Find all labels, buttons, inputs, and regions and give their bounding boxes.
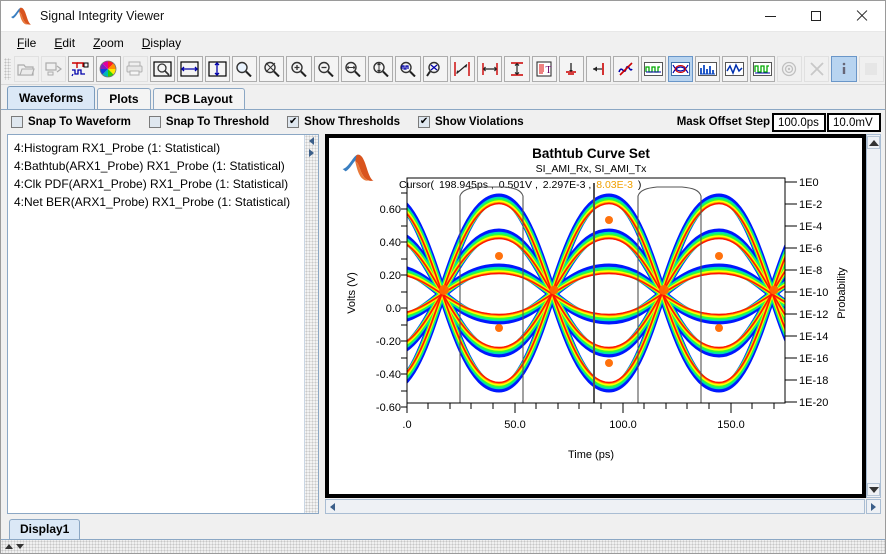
tab-waveforms[interactable]: Waveforms xyxy=(7,86,95,109)
title-bar: Signal Integrity Viewer xyxy=(1,1,885,32)
status-scroll-arrows[interactable] xyxy=(5,544,24,549)
cursor-suffix: ) xyxy=(638,179,642,191)
cursor-sep2: , xyxy=(535,179,538,191)
window-controls xyxy=(747,1,885,31)
scroll-left-icon[interactable] xyxy=(326,500,339,513)
checkbox-show-violations[interactable]: ✔ Show Violations xyxy=(418,116,524,128)
chart-title: Bathtub Curve Set xyxy=(532,146,650,161)
cursor-value2: 8.03E-3 xyxy=(596,179,633,191)
snap-to-threshold-label: Snap To Threshold xyxy=(166,116,269,128)
signal-integrity-viewer-window: Signal Integrity Viewer File Edit Zoom D… xyxy=(0,0,886,554)
menu-zoom[interactable]: Zoom xyxy=(84,34,133,52)
marker-left-icon[interactable] xyxy=(586,56,611,82)
open-icon[interactable] xyxy=(14,56,39,82)
zoom-fit-horizontal-icon[interactable] xyxy=(341,56,366,82)
status-down-icon[interactable] xyxy=(16,544,24,549)
waveform-list-scrollbar[interactable] xyxy=(304,135,318,513)
y-tick-label: 0.60 xyxy=(380,204,401,216)
tab-plots[interactable]: Plots xyxy=(97,88,150,109)
checkbox-show-thresholds[interactable]: ✔ Show Thresholds xyxy=(287,116,400,128)
options-bar: Snap To Waveform Snap To Threshold ✔ Sho… xyxy=(1,110,885,134)
list-item[interactable]: 4:Clk PDF(ARX1_Probe) RX1_Probe (1: Stat… xyxy=(14,175,302,193)
measure-horizontal-icon[interactable] xyxy=(477,56,502,82)
close-icon[interactable] xyxy=(839,1,885,31)
cursor-value1: 2.297E-3 xyxy=(543,179,586,191)
y2-tick-label: 1E-2 xyxy=(799,199,822,211)
zoom-vertical-icon[interactable] xyxy=(205,56,230,82)
menu-zoom-rest: oom xyxy=(100,36,123,50)
cursor-sep1: , xyxy=(491,179,494,191)
status-up-icon[interactable] xyxy=(5,544,13,549)
cursor-prefix: Cursor( xyxy=(399,179,435,191)
menu-file-rest: ile xyxy=(24,36,36,50)
checkbox-snap-to-waveform[interactable]: Snap To Waveform xyxy=(11,116,131,128)
plot-wrap: Bathtub Curve Set SI_AMI_Rx, SI_AMI_Tx C… xyxy=(325,134,881,498)
cursor-time: 198.945ps xyxy=(439,179,488,191)
histogram-icon[interactable] xyxy=(695,56,720,82)
y2-axis-label: Probability xyxy=(836,267,848,319)
toolbar: T xyxy=(1,53,885,85)
measure-vertical-icon[interactable] xyxy=(504,56,529,82)
print-icon[interactable] xyxy=(123,56,148,82)
snap-to-waveform-box[interactable] xyxy=(11,116,23,128)
toolbar-grip[interactable] xyxy=(4,58,11,80)
y-tick-label: -0.40 xyxy=(376,369,401,381)
svg-text:T: T xyxy=(546,65,552,76)
list-item[interactable]: 4:Histogram RX1_Probe (1: Statistical) xyxy=(14,139,302,157)
y-tick-label: 0.40 xyxy=(380,237,401,249)
mask-offset-voltage-input[interactable]: 10.0mV xyxy=(827,113,881,132)
status-bar xyxy=(1,540,885,553)
y2-tick-label: 1E-20 xyxy=(799,397,828,409)
plot-horizontal-scrollbar[interactable] xyxy=(325,499,865,514)
mask-offset-step-label: Mask Offset Step xyxy=(677,116,770,128)
target-icon[interactable] xyxy=(777,56,802,82)
y2-tick-label: 1E-12 xyxy=(799,309,828,321)
show-violations-label: Show Violations xyxy=(435,116,524,128)
scroll-right-icon[interactable] xyxy=(305,147,318,159)
ground-reference-icon[interactable] xyxy=(559,56,584,82)
zoom-select-icon[interactable] xyxy=(423,56,448,82)
no-signal-icon[interactable] xyxy=(613,56,638,82)
zoom-out-icon[interactable] xyxy=(314,56,339,82)
tab-pcb-layout[interactable]: PCB Layout xyxy=(153,88,245,109)
y-tick-label: 0.0 xyxy=(386,303,401,315)
zoom-horizontal-icon[interactable] xyxy=(177,56,202,82)
menu-file[interactable]: File xyxy=(8,34,45,52)
y-tick-label: 0.20 xyxy=(380,270,401,282)
y2-tick-label: 1E-18 xyxy=(799,375,828,387)
save-icon[interactable] xyxy=(41,56,66,82)
zoom-full-icon[interactable] xyxy=(232,56,257,82)
list-item[interactable]: 4:Net BER(ARX1_Probe) RX1_Probe (1: Stat… xyxy=(14,193,302,211)
cursor-diagonal-icon[interactable] xyxy=(450,56,475,82)
checkbox-snap-to-threshold[interactable]: Snap To Threshold xyxy=(149,116,269,128)
zoom-previous-icon[interactable] xyxy=(259,56,284,82)
show-violations-box[interactable]: ✔ xyxy=(418,116,430,128)
zoom-in-icon[interactable] xyxy=(286,56,311,82)
x-tick-label: 100.0 xyxy=(609,419,637,431)
y-tick-label: -0.60 xyxy=(376,402,401,414)
menu-display-rest: isplay xyxy=(150,36,181,50)
eye-diagram-icon[interactable] xyxy=(668,56,693,82)
report-text-icon[interactable]: T xyxy=(532,56,557,82)
blank-icon[interactable] xyxy=(859,56,884,82)
menu-bar: File Edit Zoom Display xyxy=(1,32,885,53)
minimize-icon[interactable] xyxy=(747,1,793,31)
waveform-properties-icon[interactable] xyxy=(68,56,93,82)
y2-tick-label: 1E0 xyxy=(799,177,819,189)
maximize-icon[interactable] xyxy=(793,1,839,31)
delete-icon[interactable] xyxy=(804,56,829,82)
y-tick-label: -0.20 xyxy=(376,336,401,348)
scrollbar-corner[interactable] xyxy=(866,499,881,514)
cursor-readout: Cursor( 198.945ps , 0.501V , 2.297E-3 , … xyxy=(399,179,641,191)
show-thresholds-box[interactable]: ✔ xyxy=(287,116,299,128)
bathtub-curve-plot[interactable]: Bathtub Curve Set SI_AMI_Rx, SI_AMI_Tx C… xyxy=(325,134,866,498)
x-tick-label: .0 xyxy=(402,419,411,431)
y2-tick-label: 1E-10 xyxy=(799,287,828,299)
plot-panel: Bathtub Curve Set SI_AMI_Rx, SI_AMI_Tx C… xyxy=(325,134,881,514)
matlab-membrane-icon xyxy=(10,6,32,26)
cursor-sep3: , xyxy=(588,179,591,191)
scroll-left-icon[interactable] xyxy=(305,135,318,147)
color-wheel-icon[interactable] xyxy=(96,56,121,82)
display-tabs: Display1 xyxy=(1,516,885,540)
scroll-down-icon[interactable] xyxy=(867,483,880,496)
zoom-fit-vertical-icon[interactable] xyxy=(368,56,393,82)
plot-vertical-scrollbar[interactable] xyxy=(866,134,881,498)
menu-edit-rest: dit xyxy=(62,36,75,50)
tab-display1[interactable]: Display1 xyxy=(9,519,80,539)
y-axis-label: Volts (V) xyxy=(346,272,358,314)
info-icon[interactable] xyxy=(831,56,856,82)
show-thresholds-label: Show Thresholds xyxy=(304,116,400,128)
snap-to-waveform-label: Snap To Waveform xyxy=(28,116,131,128)
x-tick-label: 50.0 xyxy=(504,419,525,431)
menu-display[interactable]: Display xyxy=(133,34,190,52)
y2-tick-label: 1E-16 xyxy=(799,353,828,365)
menu-edit[interactable]: Edit xyxy=(45,34,84,52)
y2-tick-label: 1E-6 xyxy=(799,243,822,255)
plot-horizontal-scrollbar-row xyxy=(325,499,881,514)
chart-subtitle: SI_AMI_Rx, SI_AMI_Tx xyxy=(536,163,648,175)
zoom-window-icon[interactable] xyxy=(150,56,175,82)
main-tabs: Waveforms Plots PCB Layout xyxy=(1,85,885,110)
scroll-up-icon[interactable] xyxy=(867,136,880,149)
zoom-waveform-icon[interactable] xyxy=(395,56,420,82)
waveform-list-panel: 4:Histogram RX1_Probe (1: Statistical) 4… xyxy=(7,134,319,514)
y2-tick-label: 1E-8 xyxy=(799,265,822,277)
analog-waveform-icon[interactable] xyxy=(722,56,747,82)
x-axis-label: Time (ps) xyxy=(568,449,614,461)
waveform-list[interactable]: 4:Histogram RX1_Probe (1: Statistical) 4… xyxy=(8,135,304,513)
clock-waveform-icon[interactable] xyxy=(750,56,775,82)
y2-tick-label: 1E-14 xyxy=(799,331,828,343)
window-title: Signal Integrity Viewer xyxy=(40,9,747,23)
digital-waveform-icon[interactable] xyxy=(641,56,666,82)
y2-tick-label: 1E-4 xyxy=(799,221,822,233)
snap-to-threshold-box[interactable] xyxy=(149,116,161,128)
content-area: 4:Histogram RX1_Probe (1: Statistical) 4… xyxy=(1,134,885,516)
list-item[interactable]: 4:Bathtub(ARX1_Probe) RX1_Probe (1: Stat… xyxy=(14,157,302,175)
plot-canvas: Bathtub Curve Set SI_AMI_Rx, SI_AMI_Tx C… xyxy=(329,138,854,493)
mask-offset-time-input[interactable]: 100.0ps xyxy=(772,113,826,132)
x-tick-label: 150.0 xyxy=(717,419,745,431)
